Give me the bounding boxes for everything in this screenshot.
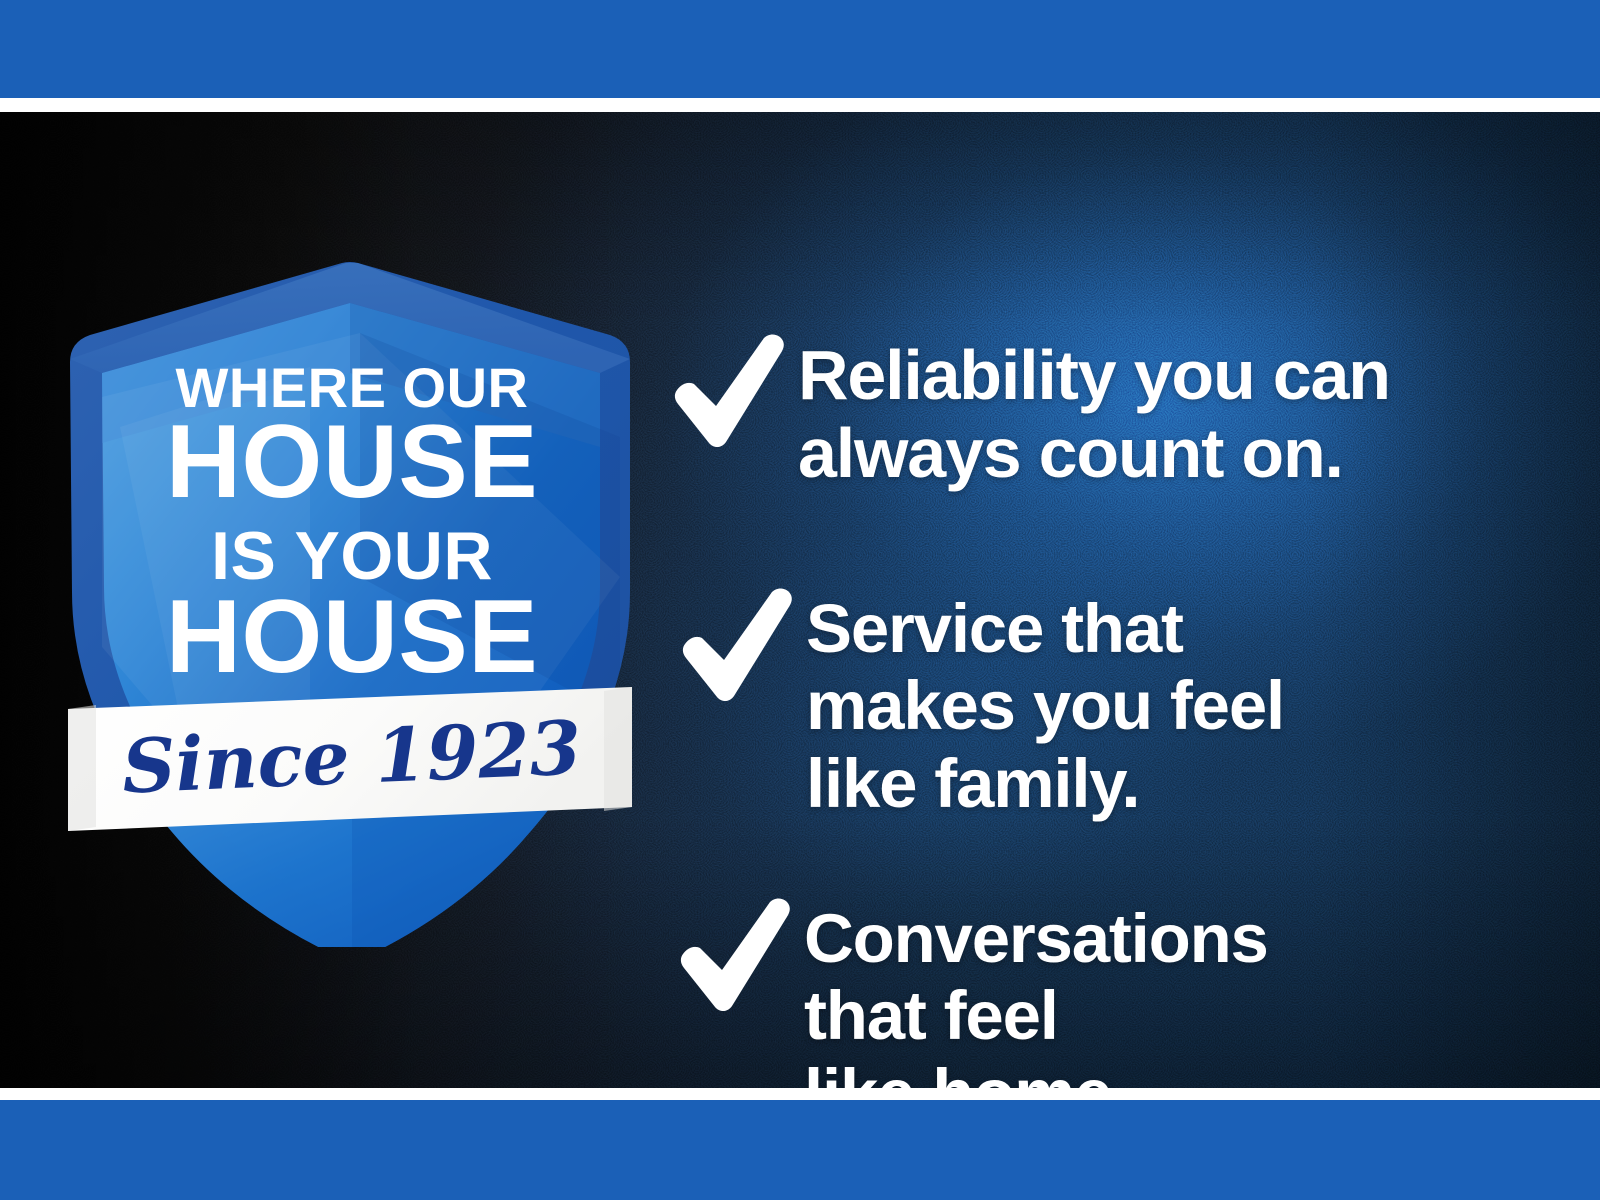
benefits-list: Reliability you can always count on. Ser… <box>668 224 1528 1088</box>
bottom-brand-bar <box>0 1100 1600 1200</box>
list-item: Conversations that feel like home. <box>674 896 1268 1088</box>
check-icon <box>676 586 796 704</box>
shield-line-4: HOUSE <box>166 579 538 695</box>
top-separator-stripe <box>0 98 1600 112</box>
ribbon-fold-left <box>68 705 96 831</box>
ribbon-fold-right <box>604 687 632 811</box>
list-item-label: Conversations that feel like home. <box>804 896 1268 1088</box>
bottom-separator-stripe <box>0 1088 1600 1100</box>
top-brand-bar <box>0 0 1600 98</box>
check-icon <box>668 332 788 450</box>
list-item-label: Reliability you can always count on. <box>798 332 1390 493</box>
since-ribbon: Since 1923 <box>68 687 632 831</box>
check-icon <box>674 896 794 1014</box>
shield-emblem: WHERE OUR HOUSE IS YOUR HOUSE Since 1923 <box>60 247 640 947</box>
list-item-label: Service that makes you feel like family. <box>806 586 1284 822</box>
promo-graphic: WHERE OUR HOUSE IS YOUR HOUSE Since 1923 <box>0 0 1600 1200</box>
list-item: Reliability you can always count on. <box>668 332 1390 493</box>
list-item: Service that makes you feel like family. <box>676 586 1284 822</box>
main-panel: WHERE OUR HOUSE IS YOUR HOUSE Since 1923 <box>0 112 1600 1088</box>
shield-line-2: HOUSE <box>166 404 538 520</box>
